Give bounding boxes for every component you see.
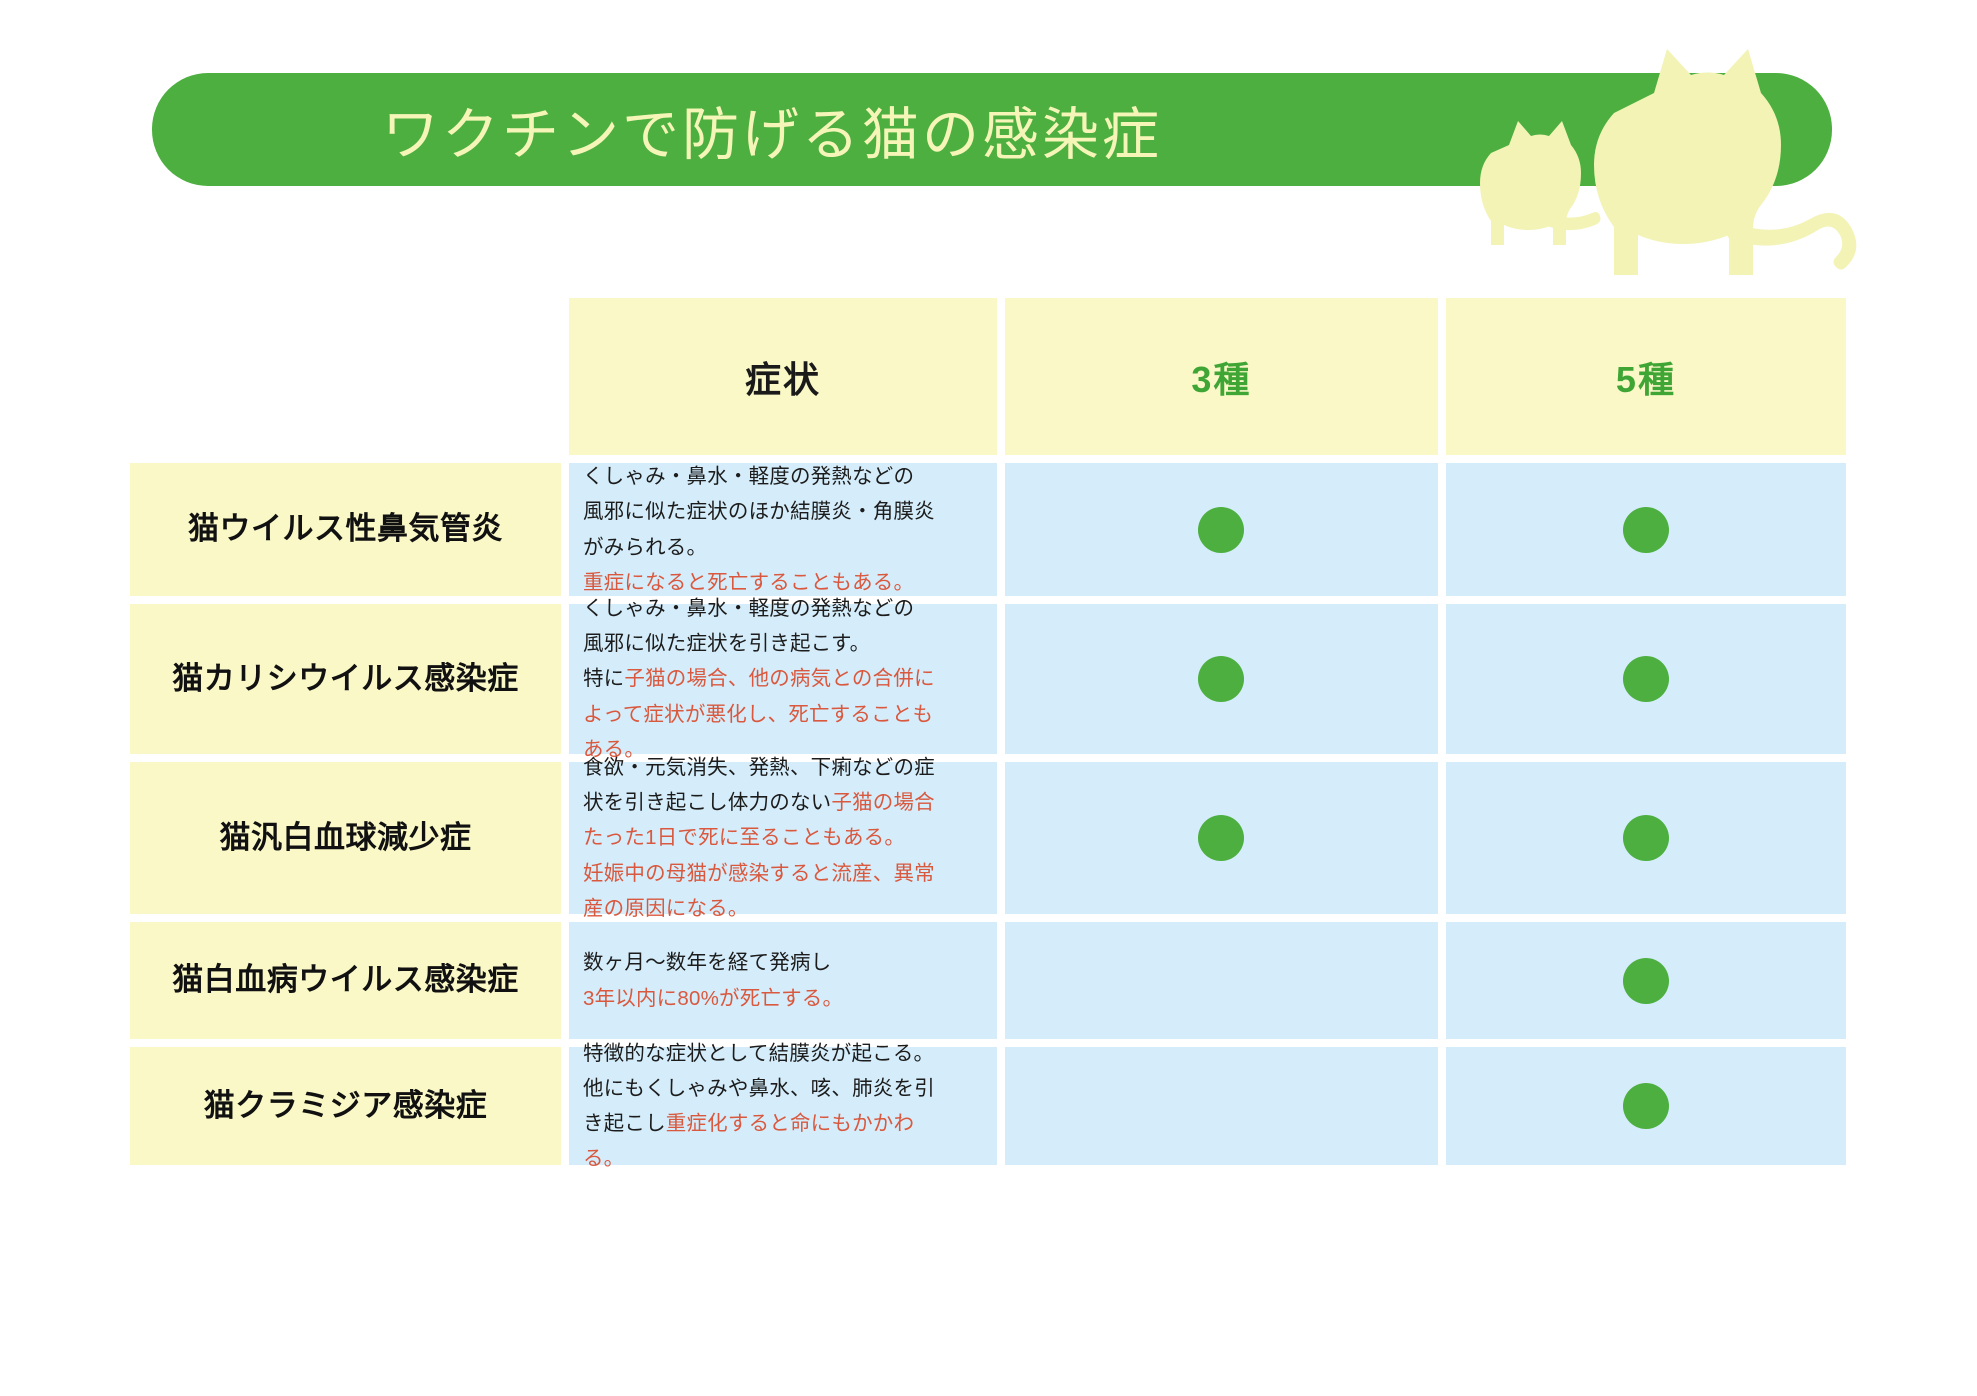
row-divider [130, 596, 1846, 604]
disease-name-cell: 猫汎白血球減少症 [130, 762, 561, 914]
header-cell-vaccine-5: 5種 [1446, 298, 1846, 455]
vaccine-5-cell [1446, 922, 1846, 1039]
vaccine-table: 症状 3種 5種 猫ウイルス性鼻気管炎くしゃみ・鼻水・軽度の発熱などの風邪に似た… [130, 298, 1846, 1165]
vaccine-5-cell [1446, 762, 1846, 914]
symptom-cell: くしゃみ・鼻水・軽度の発熱などの風邪に似た症状のほか結膜炎・角膜炎がみられる。重… [569, 463, 997, 596]
symptom-text: くしゃみ・鼻水・軽度の発熱などの風邪に似た症状を引き起こす。特に子猫の場合、他の… [583, 591, 935, 767]
vaccine-3-cell [1005, 762, 1438, 914]
vaccine-5-dot-icon [1623, 507, 1669, 553]
title-banner: ワクチンで防げる猫の感染症 [152, 73, 1832, 186]
disease-name-label: 猫クラミジア感染症 [204, 1086, 488, 1126]
vaccine-3-cell [1005, 922, 1438, 1039]
table-row: 猫ウイルス性鼻気管炎くしゃみ・鼻水・軽度の発熱などの風邪に似た症状のほか結膜炎・… [130, 463, 1846, 596]
disease-name-cell: 猫クラミジア感染症 [130, 1047, 561, 1165]
symptom-cell: 特徴的な症状として結膜炎が起こる。他にもくしゃみや鼻水、咳、肺炎を引き起こし重症… [569, 1047, 997, 1165]
vaccine-3-cell [1005, 604, 1438, 754]
vaccine-3-cell [1005, 463, 1438, 596]
vaccine-5-cell [1446, 463, 1846, 596]
disease-name-cell: 猫ウイルス性鼻気管炎 [130, 463, 561, 596]
vaccine-5-cell [1446, 604, 1846, 754]
vaccine-3-dot-icon [1198, 656, 1244, 702]
symptom-text: 特徴的な症状として結膜炎が起こる。他にもくしゃみや鼻水、咳、肺炎を引き起こし重症… [583, 1036, 935, 1177]
disease-name-label: 猫カリシウイルス感染症 [172, 659, 519, 699]
table-header-row: 症状 3種 5種 [130, 298, 1846, 455]
row-divider [130, 1039, 1846, 1047]
table-row: 猫カリシウイルス感染症くしゃみ・鼻水・軽度の発熱などの風邪に似た症状を引き起こす… [130, 604, 1846, 754]
row-divider [130, 754, 1846, 762]
symptom-cell: 数ヶ月〜数年を経て発病し3年以内に80%が死亡する。 [569, 922, 997, 1039]
table-row: 猫クラミジア感染症特徴的な症状として結膜炎が起こる。他にもくしゃみや鼻水、咳、肺… [130, 1047, 1846, 1165]
vaccine-3-dot-icon [1198, 815, 1244, 861]
vaccine-5-dot-icon [1623, 815, 1669, 861]
row-divider [130, 455, 1846, 463]
symptom-text: くしゃみ・鼻水・軽度の発熱などの風邪に似た症状のほか結膜炎・角膜炎がみられる。重… [583, 459, 935, 600]
vaccine-5-dot-icon [1623, 656, 1669, 702]
vaccine-5-cell [1446, 1047, 1846, 1165]
header-cell-symptom: 症状 [569, 298, 997, 455]
header-cell-disease [130, 298, 561, 455]
vaccine-5-dot-icon [1623, 1083, 1669, 1129]
vaccine-5-dot-icon [1623, 958, 1669, 1004]
symptom-text: 食欲・元気消失、発熱、下痢などの症状を引き起こし体力のない子猫の場合たった1日で… [583, 750, 935, 926]
disease-name-label: 猫ウイルス性鼻気管炎 [188, 509, 503, 549]
disease-name-cell: 猫カリシウイルス感染症 [130, 604, 561, 754]
header-label-vaccine-5: 5種 [1616, 351, 1676, 403]
table-row: 猫白血病ウイルス感染症数ヶ月〜数年を経て発病し3年以内に80%が死亡する。 [130, 922, 1846, 1039]
page-title: ワクチンで防げる猫の感染症 [382, 89, 1162, 171]
row-divider [130, 914, 1846, 922]
table-row: 猫汎白血球減少症食欲・元気消失、発熱、下痢などの症状を引き起こし体力のない子猫の… [130, 762, 1846, 914]
vaccine-3-cell [1005, 1047, 1438, 1165]
vaccine-3-dot-icon [1198, 507, 1244, 553]
symptom-cell: くしゃみ・鼻水・軽度の発熱などの風邪に似た症状を引き起こす。特に子猫の場合、他の… [569, 604, 997, 754]
disease-name-label: 猫白血病ウイルス感染症 [172, 960, 519, 1000]
header-label-symptom: 症状 [745, 351, 821, 403]
symptom-cell: 食欲・元気消失、発熱、下痢などの症状を引き起こし体力のない子猫の場合たった1日で… [569, 762, 997, 914]
header-label-vaccine-3: 3種 [1191, 351, 1251, 403]
table-body: 猫ウイルス性鼻気管炎くしゃみ・鼻水・軽度の発熱などの風邪に似た症状のほか結膜炎・… [130, 463, 1846, 1165]
symptom-text: 数ヶ月〜数年を経て発病し3年以内に80%が死亡する。 [583, 945, 843, 1016]
header-cell-vaccine-3: 3種 [1005, 298, 1438, 455]
disease-name-label: 猫汎白血球減少症 [219, 818, 471, 858]
disease-name-cell: 猫白血病ウイルス感染症 [130, 922, 561, 1039]
